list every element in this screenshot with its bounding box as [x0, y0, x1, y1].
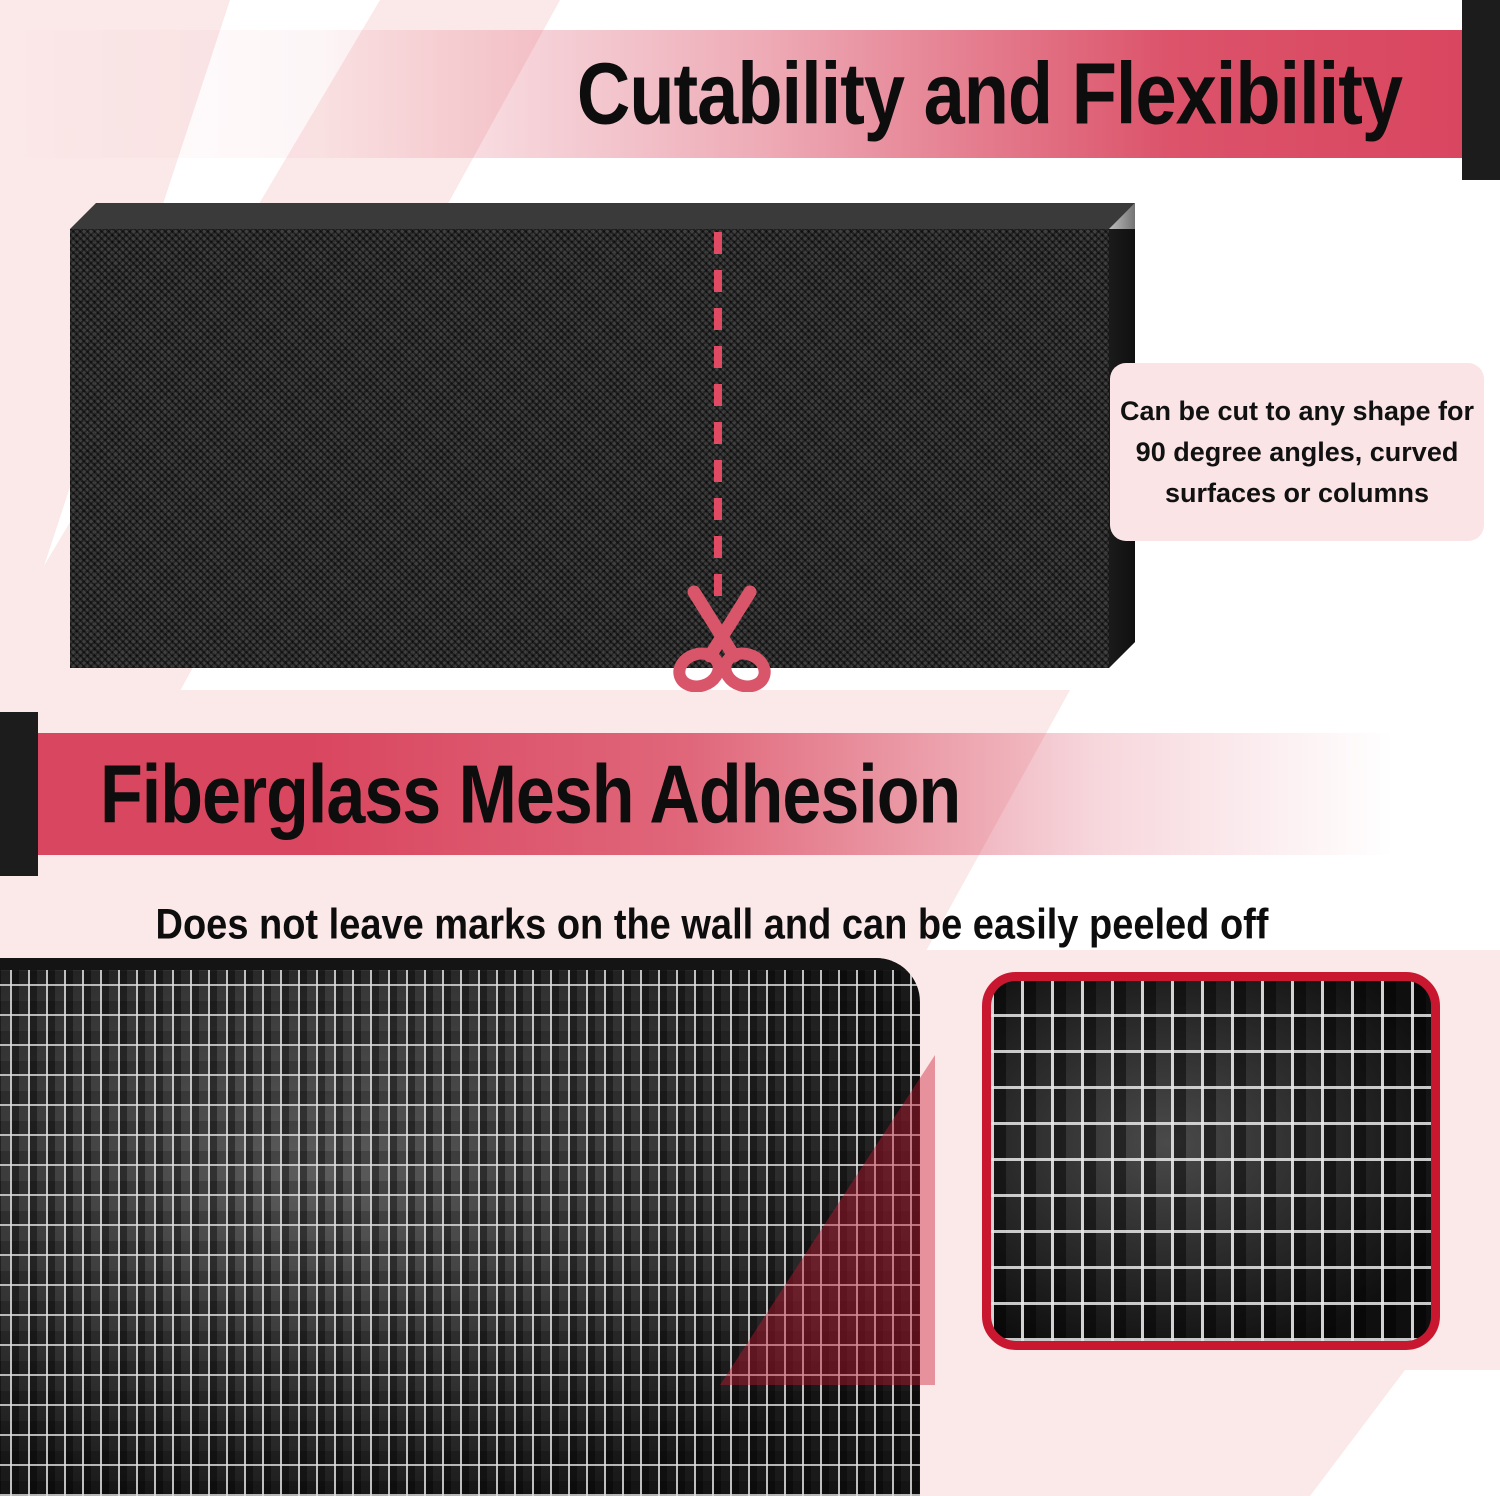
dashed-cut-line-icon — [714, 232, 722, 604]
infographic-canvas: Cutability and Flexibility Can be cut to… — [0, 0, 1500, 1496]
callout-line-1: Can be cut to any shape for — [1120, 398, 1474, 425]
section-two-banner-endcap — [0, 712, 38, 876]
callout-line-2: 90 degree angles, curved — [1136, 439, 1459, 466]
fiberglass-mesh-backing-photo — [0, 958, 920, 1496]
acoustic-foam-panel — [70, 203, 1135, 668]
mesh-closeup-texture — [991, 981, 1431, 1341]
panel-top-bevel — [70, 203, 1135, 229]
callout-line-3: surfaces or columns — [1165, 480, 1429, 507]
scissors-icon — [672, 580, 772, 692]
section-two-banner: Fiberglass Mesh Adhesion — [38, 733, 1393, 855]
mesh-photo-top-edge — [0, 958, 920, 970]
background-wedge-bottom-corner — [1300, 1370, 1500, 1496]
panel-front-face — [70, 229, 1109, 668]
section-one-banner: Cutability and Flexibility — [0, 30, 1462, 158]
section-two-title: Fiberglass Mesh Adhesion — [38, 753, 960, 836]
section-one-title: Cutability and Flexibility — [577, 50, 1462, 137]
cutability-callout-box: Can be cut to any shape for 90 degree an… — [1110, 363, 1484, 541]
fiberglass-mesh-closeup-photo — [982, 972, 1440, 1350]
section-one-banner-endcap — [1462, 0, 1500, 180]
section-two-subtitle: Does not leave marks on the wall and can… — [0, 895, 1424, 955]
